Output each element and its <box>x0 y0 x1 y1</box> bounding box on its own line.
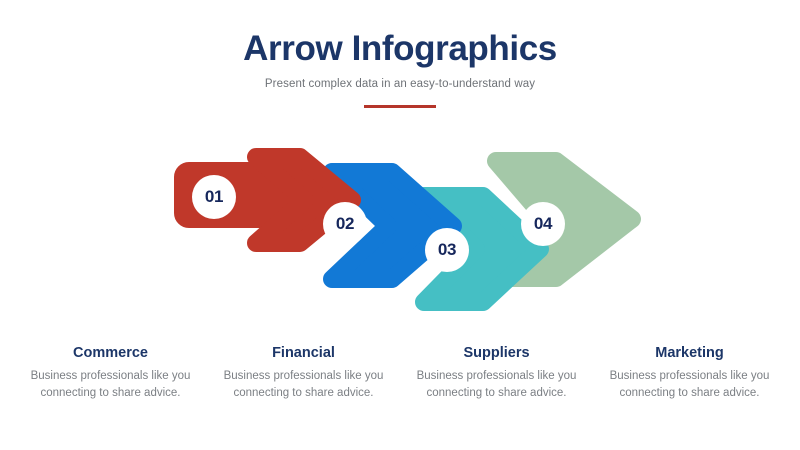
slide-canvas: Arrow Infographics Present complex data … <box>0 0 800 450</box>
title-divider <box>364 105 436 108</box>
caption-body-financial: Business professionals like you connecti… <box>211 368 396 402</box>
caption-item-financial: Financial Business professionals like yo… <box>207 344 400 402</box>
caption-body-commerce: Business professionals like you connecti… <box>18 368 203 402</box>
page-subtitle: Present complex data in an easy-to-under… <box>0 76 800 92</box>
page-title: Arrow Infographics <box>0 28 800 70</box>
caption-item-commerce: Commerce Business professionals like you… <box>14 344 207 402</box>
caption-body-marketing: Business professionals like you connecti… <box>597 368 782 402</box>
caption-item-marketing: Marketing Business professionals like yo… <box>593 344 786 402</box>
caption-title-commerce: Commerce <box>18 344 203 363</box>
caption-body-suppliers: Business professionals like you connecti… <box>404 368 589 402</box>
header: Arrow Infographics Present complex data … <box>0 28 800 108</box>
step-number-badge-03: 03 <box>425 228 469 272</box>
caption-title-financial: Financial <box>211 344 396 363</box>
caption-row: Commerce Business professionals like you… <box>14 344 786 402</box>
caption-title-suppliers: Suppliers <box>404 344 589 363</box>
caption-item-suppliers: Suppliers Business professionals like yo… <box>400 344 593 402</box>
step-number-badge-02: 02 <box>323 202 367 246</box>
step-number-badge-04: 04 <box>521 202 565 246</box>
caption-title-marketing: Marketing <box>597 344 782 363</box>
step-number-badge-01: 01 <box>192 175 236 219</box>
